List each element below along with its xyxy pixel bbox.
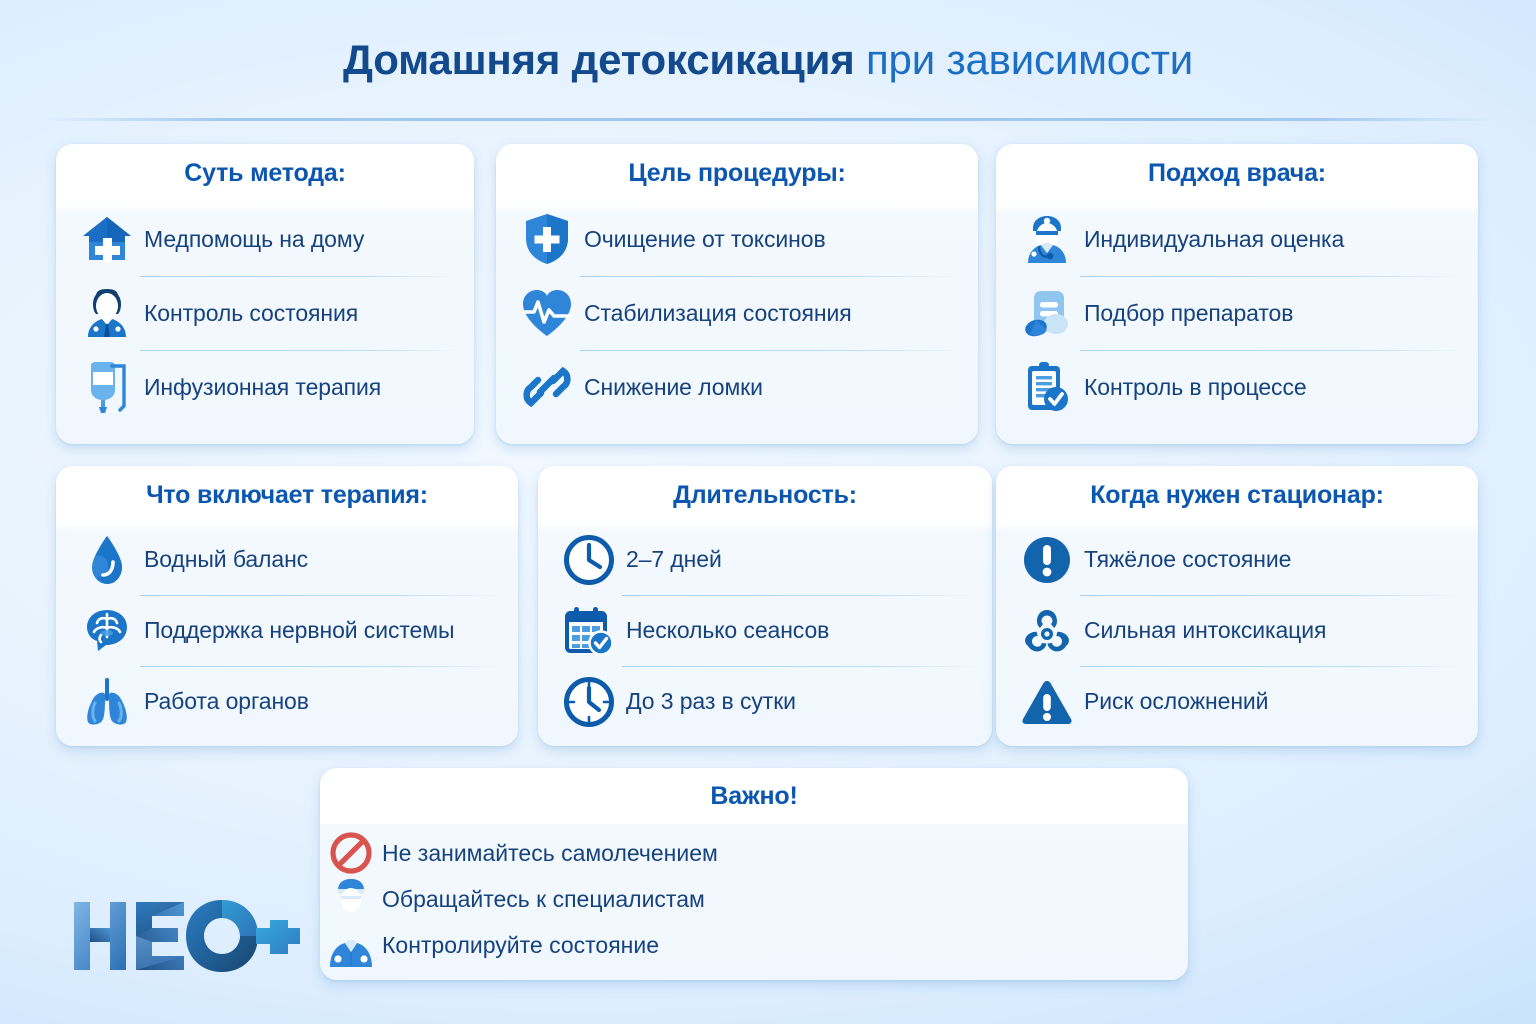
list-item[interactable]: Инфузионная терапия bbox=[74, 350, 458, 424]
card-header-text: Суть метода: bbox=[184, 159, 345, 188]
list-item-label: Тяжёлое состояние bbox=[1080, 546, 1291, 573]
list-item-label: Контроль состояния bbox=[140, 300, 358, 327]
doctor-stethoscope-icon bbox=[1014, 213, 1080, 265]
list-item[interactable]: Стабилизация состояния bbox=[514, 276, 962, 350]
list-item-label: Несколько сеансов bbox=[622, 617, 829, 644]
card-header: Что включает терапия: bbox=[56, 466, 518, 524]
card-header: Длительность: bbox=[538, 466, 992, 524]
card-header: Подход врача: bbox=[996, 144, 1478, 202]
card-dlitelnost: Длительность: 2–7 дней bbox=[538, 466, 992, 746]
list-item-label: Снижение ломки bbox=[580, 374, 763, 401]
card-vazhno: Важно! Не занимайтесь самолечением bbox=[320, 768, 1188, 980]
shield-cross-icon bbox=[514, 212, 580, 266]
list-item[interactable]: Контролируйте состояние bbox=[320, 922, 1188, 968]
list-item-label: Контролируйте состояние bbox=[382, 932, 659, 959]
home-cross-icon bbox=[74, 214, 140, 264]
title-divider bbox=[42, 118, 1494, 121]
list-item-label: Инфузионная терапия bbox=[140, 374, 381, 401]
brain-icon bbox=[74, 607, 140, 655]
card-body: Водный баланс Поддержка нервн bbox=[56, 524, 518, 737]
list-item-label: До 3 раз в сутки bbox=[622, 688, 796, 715]
card-body: Тяжёлое состояние Сильная интоксикация bbox=[996, 524, 1478, 737]
doctor-tie-icon bbox=[74, 287, 140, 339]
list-item[interactable]: Очищение от токсинов bbox=[514, 202, 962, 276]
card-header-text: Важно! bbox=[710, 782, 797, 811]
page-title-light: при зависимости bbox=[855, 36, 1193, 83]
list-item-label: Подбор препаратов bbox=[1080, 300, 1293, 327]
list-item[interactable]: Сильная интоксикация bbox=[1014, 595, 1462, 666]
list-item[interactable]: 2–7 дней bbox=[556, 524, 976, 595]
heart-pulse-icon bbox=[514, 288, 580, 338]
clock-icon bbox=[556, 534, 622, 586]
card-header: Суть метода: bbox=[56, 144, 474, 202]
card-header-text: Цель процедуры: bbox=[628, 159, 845, 188]
list-item[interactable]: Контроль состояния bbox=[74, 276, 458, 350]
list-item[interactable]: Тяжёлое состояние bbox=[1014, 524, 1462, 595]
list-item-label: Сильная интоксикация bbox=[1080, 617, 1326, 644]
list-item[interactable]: Медпомощь на дому bbox=[74, 202, 458, 276]
list-item-label: Обращайтесь к специалистам bbox=[382, 886, 705, 913]
list-item[interactable]: Подбор препаратов bbox=[1014, 276, 1462, 350]
clock-icon bbox=[556, 676, 622, 728]
list-item[interactable]: Водный баланс bbox=[74, 524, 502, 595]
list-item-label: Работа органов bbox=[140, 688, 309, 715]
card-podhod-vracha: Подход врача: Индивидуальная оценка bbox=[996, 144, 1478, 444]
biohazard-icon bbox=[1014, 606, 1080, 656]
list-item[interactable]: Поддержка нервной системы bbox=[74, 595, 502, 666]
list-item-label: Очищение от токсинов bbox=[580, 226, 826, 253]
list-item[interactable]: Риск осложнений bbox=[1014, 666, 1462, 737]
card-header-text: Когда нужен стационар: bbox=[1090, 481, 1384, 510]
list-item-label: 2–7 дней bbox=[622, 546, 722, 573]
neo-plus-logo bbox=[70, 898, 300, 974]
water-drop-icon bbox=[74, 534, 140, 586]
exclamation-circle-icon bbox=[1014, 535, 1080, 585]
list-item-label: Риск осложнений bbox=[1080, 688, 1268, 715]
list-item-label: Контроль в процессе bbox=[1080, 374, 1307, 401]
list-item[interactable]: Несколько сеансов bbox=[556, 595, 976, 666]
page-title-strong: Домашняя детоксикация bbox=[343, 36, 855, 83]
card-header-text: Что включает терапия: bbox=[146, 481, 428, 510]
iv-drip-icon bbox=[74, 360, 140, 414]
list-item-label: Водный баланс bbox=[140, 546, 308, 573]
card-body: 2–7 дней Несколько сеанс bbox=[538, 524, 992, 737]
list-item[interactable]: Контроль в процессе bbox=[1014, 350, 1462, 424]
card-header-text: Длительность: bbox=[673, 481, 857, 510]
card-cel-procedury: Цель процедуры: Очищение от токсинов bbox=[496, 144, 978, 444]
list-item-label: Медпомощь на дому bbox=[140, 226, 364, 253]
list-item[interactable]: Не занимайтесь самолечением bbox=[320, 830, 1188, 876]
list-item-label: Поддержка нервной системы bbox=[140, 617, 454, 644]
list-item[interactable]: До 3 раз в сутки bbox=[556, 666, 976, 737]
list-item-label: Не занимайтесь самолечением bbox=[382, 840, 718, 867]
list-item[interactable]: Индивидуальная оценка bbox=[1014, 202, 1462, 276]
nurse-icon bbox=[320, 876, 382, 922]
card-body: Очищение от токсинов Стабилизация состоя… bbox=[496, 202, 978, 424]
card-body: Индивидуальная оценка Подбор препаратов bbox=[996, 202, 1478, 424]
doctor-icon bbox=[320, 923, 382, 967]
list-item[interactable]: Снижение ломки bbox=[514, 350, 962, 424]
card-body: Медпомощь на дому Контроль состояния bbox=[56, 202, 474, 424]
list-item-label: Индивидуальная оценка bbox=[1080, 226, 1344, 253]
clipboard-check-icon bbox=[1014, 360, 1080, 414]
card-kogda-nuzhen-stacionar: Когда нужен стационар: Тяжёлое состояние bbox=[996, 466, 1478, 746]
card-chto-vklyuchaet-terapiya: Что включает терапия: Водный баланс bbox=[56, 466, 518, 746]
card-sut-metoda: Суть метода: Медпомощь на дому bbox=[56, 144, 474, 444]
page-title: Домашняя детоксикация при зависимости bbox=[0, 34, 1536, 86]
card-header: Когда нужен стационар: bbox=[996, 466, 1478, 524]
card-body: Не занимайтесь самолечением Обращайтесь … bbox=[320, 824, 1188, 968]
warning-triangle-icon bbox=[1014, 678, 1080, 726]
lungs-icon bbox=[74, 677, 140, 727]
list-item-label: Стабилизация состояния bbox=[580, 300, 852, 327]
card-header-text: Подход врача: bbox=[1148, 159, 1326, 188]
card-header: Важно! bbox=[320, 768, 1188, 824]
prohibition-icon bbox=[320, 831, 382, 875]
chain-link-icon bbox=[514, 363, 580, 411]
list-item[interactable]: Работа органов bbox=[74, 666, 502, 737]
list-item[interactable]: Обращайтесь к специалистам bbox=[320, 876, 1188, 922]
pills-icon bbox=[1014, 288, 1080, 338]
card-header: Цель процедуры: bbox=[496, 144, 978, 202]
calendar-check-icon bbox=[556, 605, 622, 657]
